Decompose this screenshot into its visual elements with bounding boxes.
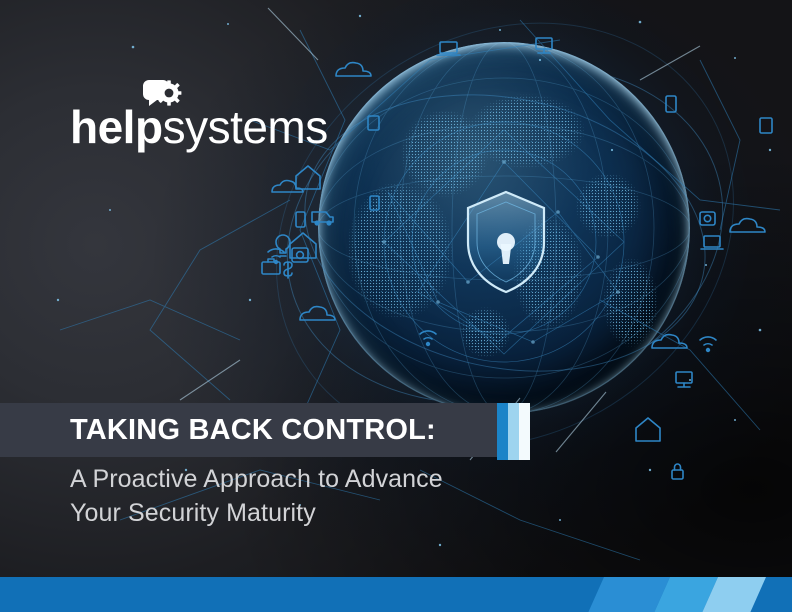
accent-bar-white	[519, 403, 530, 460]
digital-globe-artwork	[318, 42, 690, 414]
logo-wordmark: helpsystems	[70, 104, 328, 150]
subtitle-line-2: Your Security Maturity	[70, 496, 540, 530]
accent-bar-light-blue	[508, 403, 519, 460]
logo-word-help: help	[70, 101, 163, 153]
accent-bar-dark-blue	[497, 403, 508, 460]
page-title: TAKING BACK CONTROL:	[70, 414, 436, 447]
footer-band	[0, 577, 792, 612]
page-subtitle: A Proactive Approach to Advance Your Sec…	[70, 462, 540, 530]
subtitle-line-1: A Proactive Approach to Advance	[70, 462, 540, 496]
helpsystems-logo[interactable]: helpsystems	[70, 78, 320, 150]
title-band: TAKING BACK CONTROL:	[0, 403, 530, 457]
ebook-cover-page: helpsystems TAKING BACK CONTROL: A Proac…	[0, 0, 792, 612]
accent-bar-group	[497, 403, 530, 460]
logo-word-systems: systems	[163, 101, 328, 153]
